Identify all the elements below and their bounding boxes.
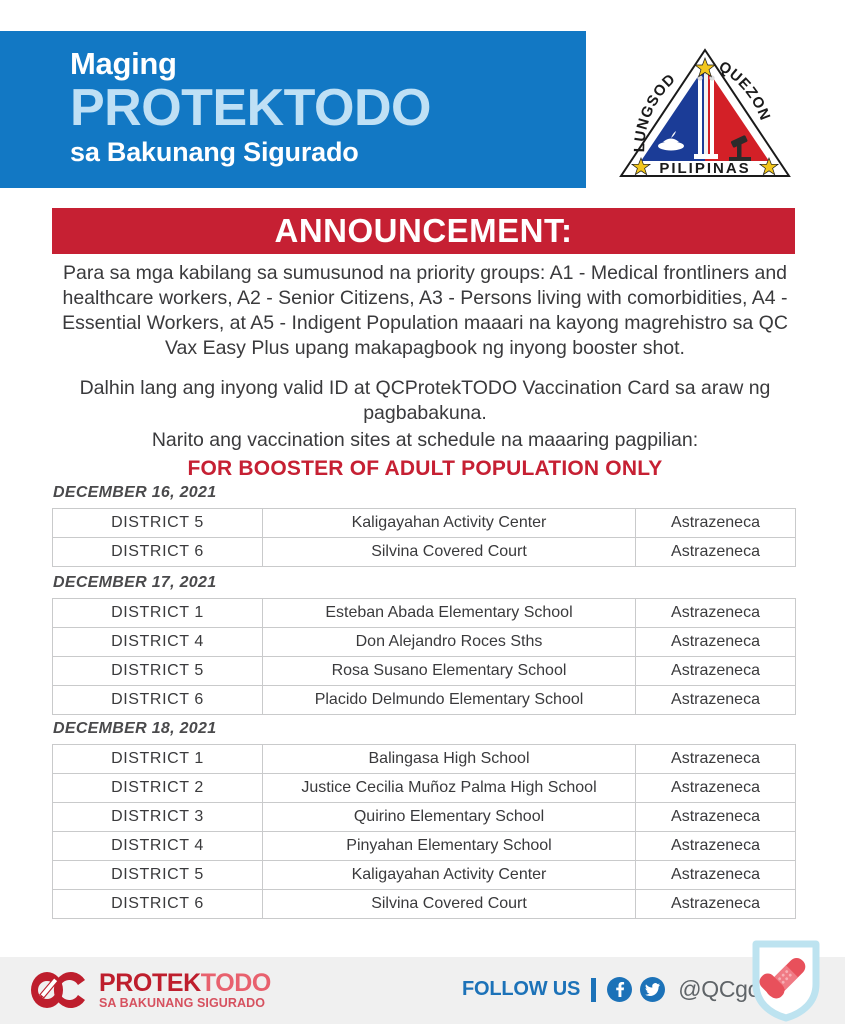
paragraph-bring-id: Dalhin lang ang inyong valid ID at QCPro…	[55, 376, 795, 426]
logo-word-line: PROTEKTODO	[99, 971, 271, 996]
cell-district: DISTRICT 4	[53, 832, 263, 861]
cell-site: Justice Cecilia Muñoz Palma High School	[263, 774, 636, 803]
schedule-table-dec-17: DISTRICT 1 Esteban Abada Elementary Scho…	[52, 598, 796, 715]
cell-vaccine: Astrazeneca	[636, 774, 796, 803]
table-row: DISTRICT 4 Don Alejandro Roces Sths Astr…	[53, 628, 796, 657]
paragraph-sites-intro: Narito ang vaccination sites at schedule…	[55, 428, 795, 453]
date-label-dec-17: DECEMBER 17, 2021	[53, 574, 216, 592]
cell-site: Kaligayahan Activity Center	[263, 509, 636, 538]
cell-vaccine: Astrazeneca	[636, 628, 796, 657]
schedule-table-dec-16: DISTRICT 5 Kaligayahan Activity Center A…	[52, 508, 796, 567]
logo-tagline: SA BAKUNANG SIGURADO	[99, 997, 271, 1010]
cell-district: DISTRICT 2	[53, 774, 263, 803]
header-title-block: Maging PROTEKTODO sa Bakunang Sigurado	[70, 48, 431, 166]
divider-bar	[591, 978, 596, 1002]
cell-district: DISTRICT 6	[53, 890, 263, 919]
cell-district: DISTRICT 5	[53, 509, 263, 538]
logo-word-protek: PROTEK	[99, 969, 201, 997]
quezon-city-seal-icon: LUNGSOD QUEZON PILIPINAS	[615, 42, 795, 184]
cell-vaccine: Astrazeneca	[636, 538, 796, 567]
table-row: DISTRICT 5 Kaligayahan Activity Center A…	[53, 509, 796, 538]
cell-district: DISTRICT 6	[53, 686, 263, 715]
date-label-dec-16: DECEMBER 16, 2021	[53, 484, 216, 502]
cell-site: Balingasa High School	[263, 745, 636, 774]
qc-syringe-icon	[30, 968, 92, 1012]
cell-district: DISTRICT 1	[53, 599, 263, 628]
cell-district: DISTRICT 4	[53, 628, 263, 657]
table-row: DISTRICT 1 Balingasa High School Astraze…	[53, 745, 796, 774]
twitter-icon[interactable]	[640, 977, 665, 1002]
header-line-protektodo: PROTEKTODO	[70, 81, 431, 136]
cell-vaccine: Astrazeneca	[636, 861, 796, 890]
cell-district: DISTRICT 3	[53, 803, 263, 832]
cell-vaccine: Astrazeneca	[636, 686, 796, 715]
cell-district: DISTRICT 5	[53, 657, 263, 686]
follow-us-label: FOLLOW US	[462, 978, 580, 1001]
table-row: DISTRICT 6 Placido Delmundo Elementary S…	[53, 686, 796, 715]
cell-site: Don Alejandro Roces Sths	[263, 628, 636, 657]
announcement-title: ANNOUNCEMENT:	[275, 212, 573, 250]
table-row: DISTRICT 5 Kaligayahan Activity Center A…	[53, 861, 796, 890]
announcement-banner: ANNOUNCEMENT:	[52, 208, 795, 254]
table-row: DISTRICT 1 Esteban Abada Elementary Scho…	[53, 599, 796, 628]
table-row: DISTRICT 6 Silvina Covered Court Astraze…	[53, 538, 796, 567]
cell-site: Silvina Covered Court	[263, 890, 636, 919]
cell-site: Pinyahan Elementary School	[263, 832, 636, 861]
cell-district: DISTRICT 1	[53, 745, 263, 774]
cell-site: Kaligayahan Activity Center	[263, 861, 636, 890]
table-row: DISTRICT 5 Rosa Susano Elementary School…	[53, 657, 796, 686]
cell-site: Esteban Abada Elementary School	[263, 599, 636, 628]
qc-protektodo-logo: PROTEKTODO SA BAKUNANG SIGURADO	[30, 968, 271, 1012]
header-line-maging: Maging	[70, 48, 431, 79]
cell-vaccine: Astrazeneca	[636, 832, 796, 861]
cell-site: Quirino Elementary School	[263, 803, 636, 832]
table-row: DISTRICT 3 Quirino Elementary School Ast…	[53, 803, 796, 832]
cell-vaccine: Astrazeneca	[636, 657, 796, 686]
booster-notice: FOR BOOSTER OF ADULT POPULATION ONLY	[55, 457, 795, 481]
logo-wordmark: PROTEKTODO SA BAKUNANG SIGURADO	[99, 971, 271, 1010]
cell-vaccine: Astrazeneca	[636, 745, 796, 774]
schedule-table-dec-18: DISTRICT 1 Balingasa High School Astraze…	[52, 744, 796, 919]
cell-district: DISTRICT 6	[53, 538, 263, 567]
cell-site: Rosa Susano Elementary School	[263, 657, 636, 686]
cell-site: Silvina Covered Court	[263, 538, 636, 567]
cell-site: Placido Delmundo Elementary School	[263, 686, 636, 715]
table-row: DISTRICT 2 Justice Cecilia Muñoz Palma H…	[53, 774, 796, 803]
cell-vaccine: Astrazeneca	[636, 803, 796, 832]
follow-us-block: FOLLOW US @QCgov	[462, 976, 771, 1003]
cell-vaccine: Astrazeneca	[636, 509, 796, 538]
table-row: DISTRICT 4 Pinyahan Elementary School As…	[53, 832, 796, 861]
shield-bandage-icon	[748, 938, 824, 1024]
announcement-poster: Maging PROTEKTODO sa Bakunang Sigurado	[0, 0, 845, 1024]
table-row: DISTRICT 6 Silvina Covered Court Astraze…	[53, 890, 796, 919]
header-line-tagline: sa Bakunang Sigurado	[70, 139, 431, 166]
paragraph-priority-groups: Para sa mga kabilang sa sumusunod na pri…	[55, 261, 795, 361]
logo-word-todo: TODO	[201, 969, 271, 997]
date-label-dec-18: DECEMBER 18, 2021	[53, 720, 216, 738]
cell-vaccine: Astrazeneca	[636, 599, 796, 628]
cell-district: DISTRICT 5	[53, 861, 263, 890]
seal-base-text: PILIPINAS	[659, 160, 750, 177]
facebook-icon[interactable]	[607, 977, 632, 1002]
cell-vaccine: Astrazeneca	[636, 890, 796, 919]
